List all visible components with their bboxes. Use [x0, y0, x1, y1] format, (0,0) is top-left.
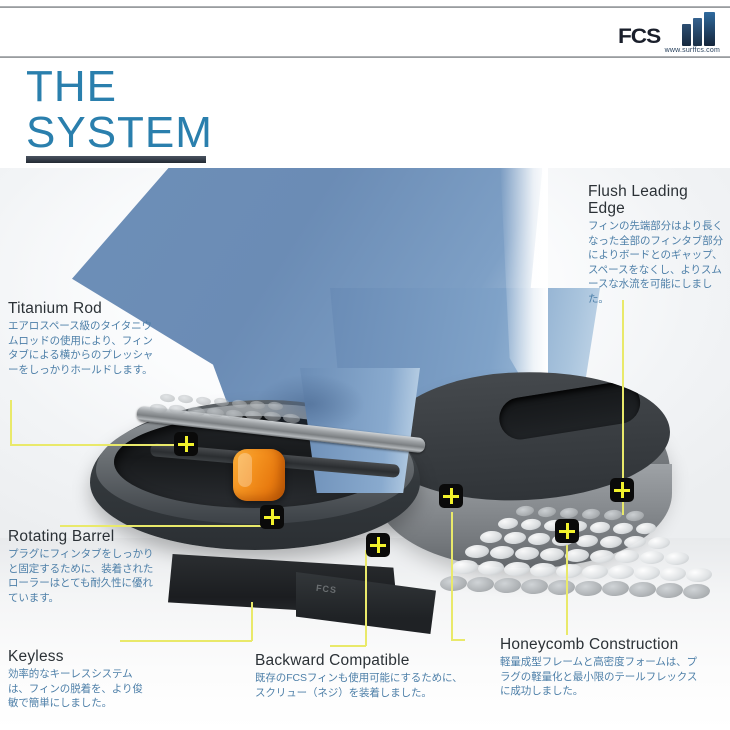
logo-wordmark: FCS — [618, 25, 660, 49]
header-rule-top — [0, 6, 730, 8]
leader-backward-h — [330, 645, 366, 647]
callout-body: 軽量成型フレームと高密度フォームは、プラグの軽量化と最小限のテールフレックスに成… — [500, 655, 700, 699]
callout-keyless: Keyless 効率的なキーレスシステムは、フィンの脱着を、より俊敏で簡単にしま… — [8, 648, 148, 711]
marker-flush-leading-edge[interactable] — [610, 478, 634, 502]
page-root: FCS www.surffcs.com THE SYSTEM — [0, 0, 730, 730]
callout-body: 既存のFCSフィンも使用可能にするために、スクリュー（ネジ）を装着しました。 — [255, 671, 470, 700]
marker-titanium-rod[interactable] — [174, 432, 198, 456]
leader-titanium-rod-v — [10, 400, 12, 445]
leader-rotating-barrel-h — [60, 525, 275, 527]
leader-titanium-rod-h — [10, 444, 195, 446]
callout-heading: Titanium Rod — [8, 300, 158, 317]
callout-heading: Keyless — [8, 648, 148, 665]
logo-url: www.surffcs.com — [665, 47, 720, 54]
leader-backward-alt-v — [451, 512, 453, 640]
callout-heading: Honeycomb Construction — [500, 636, 700, 653]
callout-titanium-rod: Titanium Rod エアロスペース級のタイタニウムロッドの使用により、フィ… — [8, 300, 158, 377]
fcs-logo[interactable]: FCS www.surffcs.com — [618, 11, 722, 55]
callout-body: フィンの先端部分はより長くなった全部のフィンタブ部分によりボードとのギャップ、ス… — [588, 219, 728, 306]
leader-keyless-v — [251, 602, 253, 641]
callout-honeycomb-construction: Honeycomb Construction 軽量成型フレームと高密度フォームは… — [500, 636, 700, 699]
marker-backward-compatible[interactable] — [439, 484, 463, 508]
header-rule-bottom — [0, 56, 730, 58]
callout-heading: Backward Compatible — [255, 652, 470, 669]
callout-heading: Flush Leading Edge — [588, 183, 728, 217]
leader-keyless-h — [120, 640, 252, 642]
leader-backward-alt-h — [451, 639, 465, 641]
page-title-line2: SYSTEM — [26, 110, 326, 156]
page-title: THE SYSTEM — [26, 64, 326, 156]
marker-honeycomb[interactable] — [555, 519, 579, 543]
marker-keyless[interactable] — [366, 533, 390, 557]
marker-rotating-barrel[interactable] — [260, 505, 284, 529]
title-underline-bar — [26, 156, 206, 163]
leader-honeycomb-v — [566, 545, 568, 635]
fcs-bars-icon — [682, 12, 716, 46]
callout-body: エアロスペース級のタイタニウムロッドの使用により、フィンタブによる横からのプレッ… — [8, 319, 158, 377]
callout-body: プラグにフィンタブをしっかりと固定するために、装着されたローラーはとても耐久性に… — [8, 547, 158, 605]
callout-backward-compatible: Backward Compatible 既存のFCSフィンも使用可能にするために… — [255, 652, 470, 700]
callout-rotating-barrel: Rotating Barrel プラグにフィンタブをしっかりと固定するために、装… — [8, 528, 158, 605]
callout-flush-leading-edge: Flush Leading Edge フィンの先端部分はより長くなった全部のフィ… — [588, 183, 728, 306]
callout-heading: Rotating Barrel — [8, 528, 158, 545]
page-title-line1: THE — [26, 62, 117, 111]
rotating-barrel-part — [233, 449, 285, 501]
callout-body: 効率的なキーレスシステムは、フィンの脱着を、より俊敏で簡単にしました。 — [8, 667, 148, 711]
leader-backward-v — [365, 550, 367, 646]
